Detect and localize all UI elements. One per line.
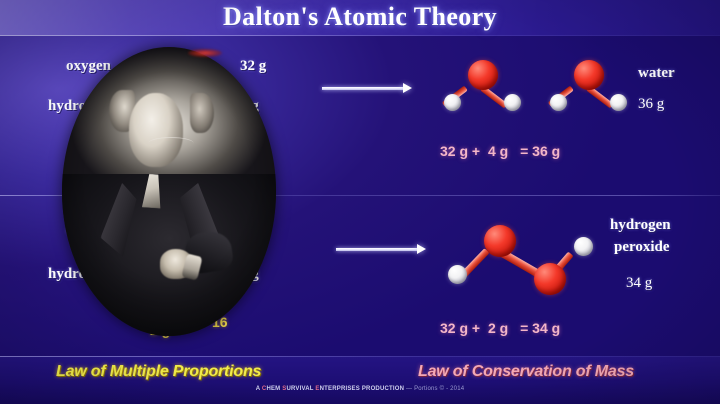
slide-canvas: Dalton's Atomic Theory oxygen 32 g hydro… [0, 0, 720, 404]
slide-vignette [0, 0, 720, 404]
